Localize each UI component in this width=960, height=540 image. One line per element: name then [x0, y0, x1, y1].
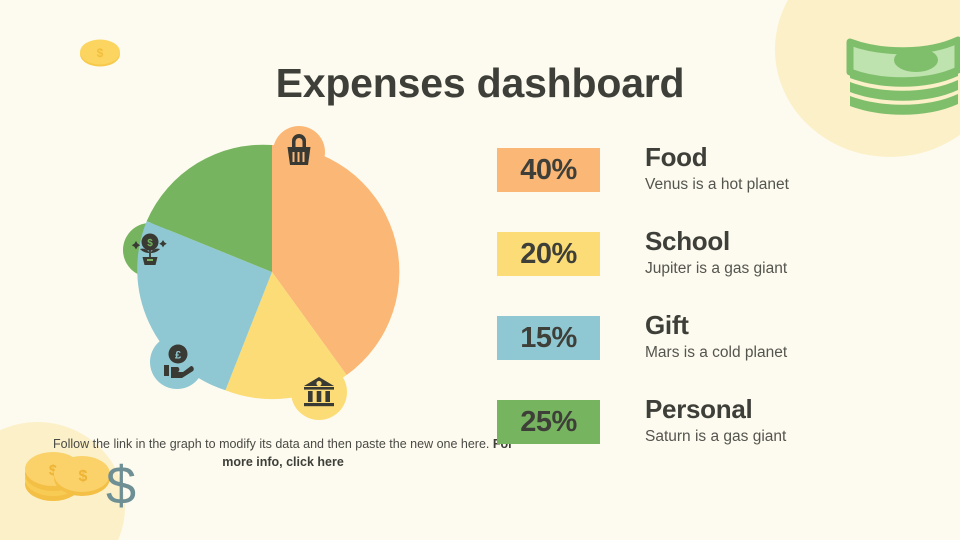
legend-item-food[interactable]: 40% Food Venus is a hot planet	[497, 148, 917, 232]
pie-chart-svg: £ $	[118, 122, 438, 432]
legend-percent-food: 40%	[520, 154, 577, 187]
legend-label-gift: Gift	[645, 310, 925, 340]
legend-swatch-gift: 15%	[497, 316, 600, 360]
legend-description-personal: Saturn is a gas giant	[645, 426, 925, 448]
legend-label-food: Food	[645, 142, 925, 172]
slide-canvas: $ $ $ $ Expenses dashboard	[0, 0, 960, 540]
legend-percent-school: 20%	[520, 238, 577, 271]
legend-item-gift[interactable]: 15% Gift Mars is a cold planet	[497, 316, 917, 400]
page-title: Expenses dashboard	[0, 60, 960, 107]
legend-text-school: School Jupiter is a gas giant	[645, 226, 925, 280]
legend-swatch-food: 40%	[497, 148, 600, 192]
legend-percent-personal: 25%	[520, 406, 577, 439]
legend-text-personal: Personal Saturn is a gas giant	[645, 394, 925, 448]
chart-caption: Follow the link in the graph to modify i…	[48, 435, 518, 471]
legend-text-gift: Gift Mars is a cold planet	[645, 310, 925, 364]
svg-text:£: £	[175, 349, 181, 361]
legend: 40% Food Venus is a hot planet 20% Schoo…	[497, 148, 917, 484]
legend-label-school: School	[645, 226, 925, 256]
svg-text:$: $	[97, 46, 104, 60]
legend-description-school: Jupiter is a gas giant	[645, 258, 925, 280]
legend-item-school[interactable]: 20% School Jupiter is a gas giant	[497, 232, 917, 316]
pie-chart: £ $	[118, 122, 438, 432]
legend-item-personal[interactable]: 25% Personal Saturn is a gas giant	[497, 400, 917, 484]
chart-caption-text: Follow the link in the graph to modify i…	[53, 437, 493, 451]
legend-text-food: Food Venus is a hot planet	[645, 142, 925, 196]
svg-text:$: $	[147, 238, 153, 249]
legend-description-food: Venus is a hot planet	[645, 174, 925, 196]
legend-swatch-school: 20%	[497, 232, 600, 276]
legend-swatch-personal: 25%	[497, 400, 600, 444]
legend-percent-gift: 15%	[520, 322, 577, 355]
page-title-text: Expenses dashboard	[276, 60, 685, 107]
legend-label-personal: Personal	[645, 394, 925, 424]
legend-description-gift: Mars is a cold planet	[645, 342, 925, 364]
